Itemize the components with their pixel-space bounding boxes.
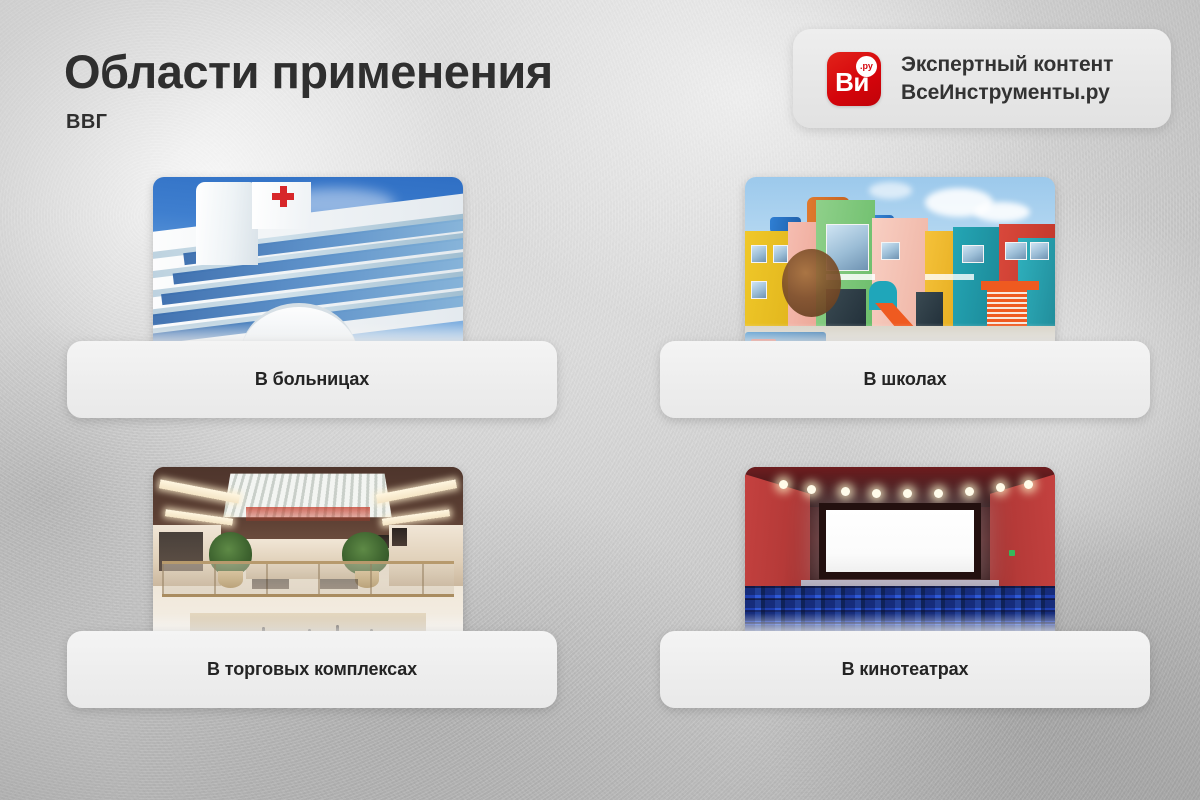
page-title: Области применения — [64, 46, 553, 98]
page-subtitle: ВВГ — [66, 111, 107, 134]
logo-ru-badge: .ру — [856, 56, 877, 77]
vseinstrumenty-logo-icon: Ви .ру — [827, 52, 881, 106]
card-label-container[interactable]: В школах — [660, 341, 1150, 418]
brand-line-1: Экспертный контент — [901, 51, 1113, 78]
card-label: В больницах — [255, 369, 369, 390]
brand-line-2: ВсеИнструменты.ру — [901, 79, 1113, 106]
school-photo — [745, 177, 1055, 357]
card-label-container[interactable]: В торговых комплексах — [67, 631, 557, 708]
brand-text-block: Экспертный контент ВсеИнструменты.ру — [901, 51, 1113, 106]
card-label-container[interactable]: В кинотеатрах — [660, 631, 1150, 708]
card-label: В школах — [864, 369, 947, 390]
brand-badge: Ви .ру Экспертный контент ВсеИнструменты… — [793, 29, 1171, 128]
cinema-photo — [745, 467, 1055, 647]
hospital-photo — [153, 177, 463, 357]
shopping-mall-photo — [153, 467, 463, 647]
card-label-container[interactable]: В больницах — [67, 341, 557, 418]
card-label: В торговых комплексах — [207, 659, 417, 680]
slide-canvas: Области применения ВВГ Ви .ру Экспертный… — [0, 0, 1200, 800]
card-label: В кинотеатрах — [842, 659, 969, 680]
